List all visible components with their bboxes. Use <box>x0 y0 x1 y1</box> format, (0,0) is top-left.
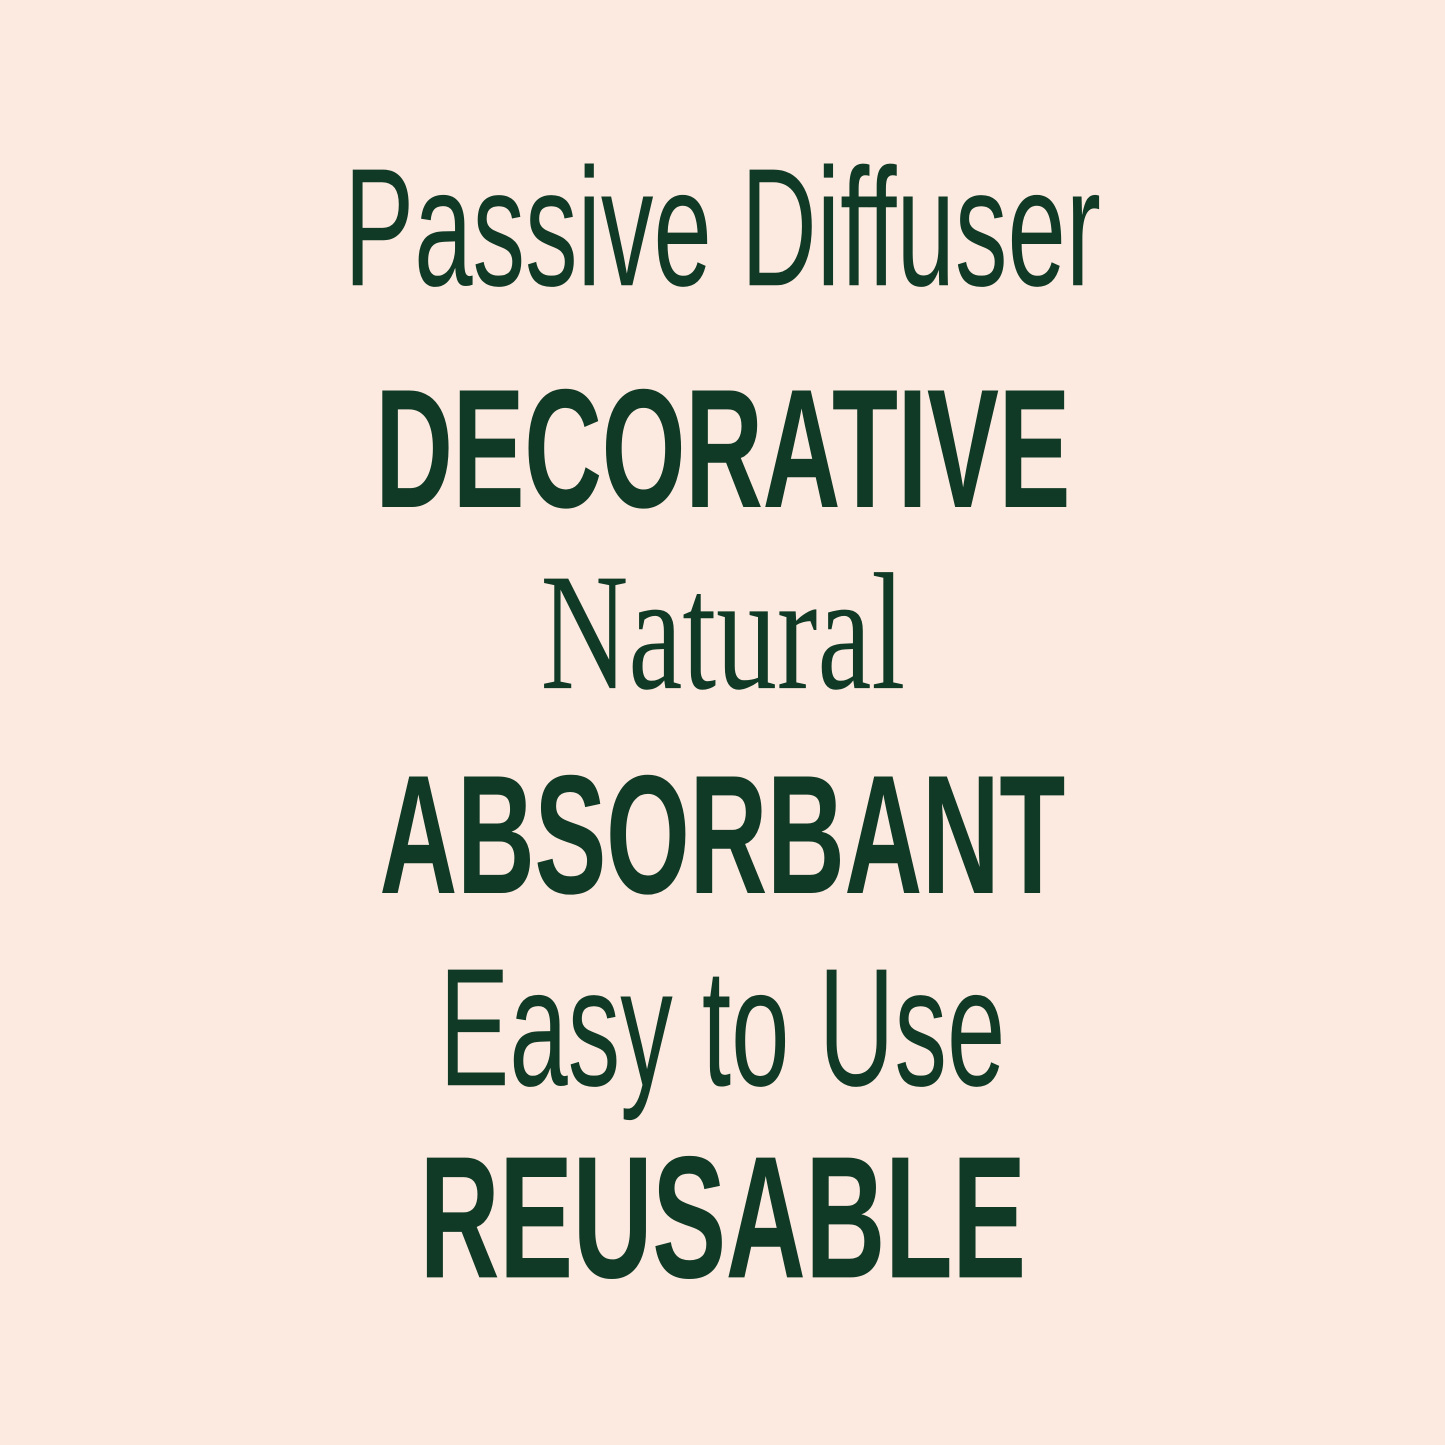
feature-label: Natural <box>540 548 905 715</box>
feature-line-absorbant: ABSORBANT <box>0 762 1445 908</box>
feature-label: DECORATIVE <box>375 364 1070 533</box>
feature-line-decorative: DECORATIVE <box>0 376 1445 522</box>
feature-label: Passive Diffuser <box>344 143 1101 311</box>
feature-line-passive-diffuser: Passive Diffuser <box>0 152 1445 302</box>
feature-line-reusable: REUSABLE <box>0 1142 1445 1292</box>
feature-label: Easy to Use <box>439 943 1005 1111</box>
feature-line-natural: Natural <box>0 556 1445 708</box>
feature-poster: Passive Diffuser DECORATIVE Natural ABSO… <box>0 0 1445 1445</box>
feature-label: REUSABLE <box>419 1130 1025 1304</box>
feature-label: ABSORBANT <box>380 750 1065 919</box>
feature-line-easy-to-use: Easy to Use <box>0 952 1445 1102</box>
